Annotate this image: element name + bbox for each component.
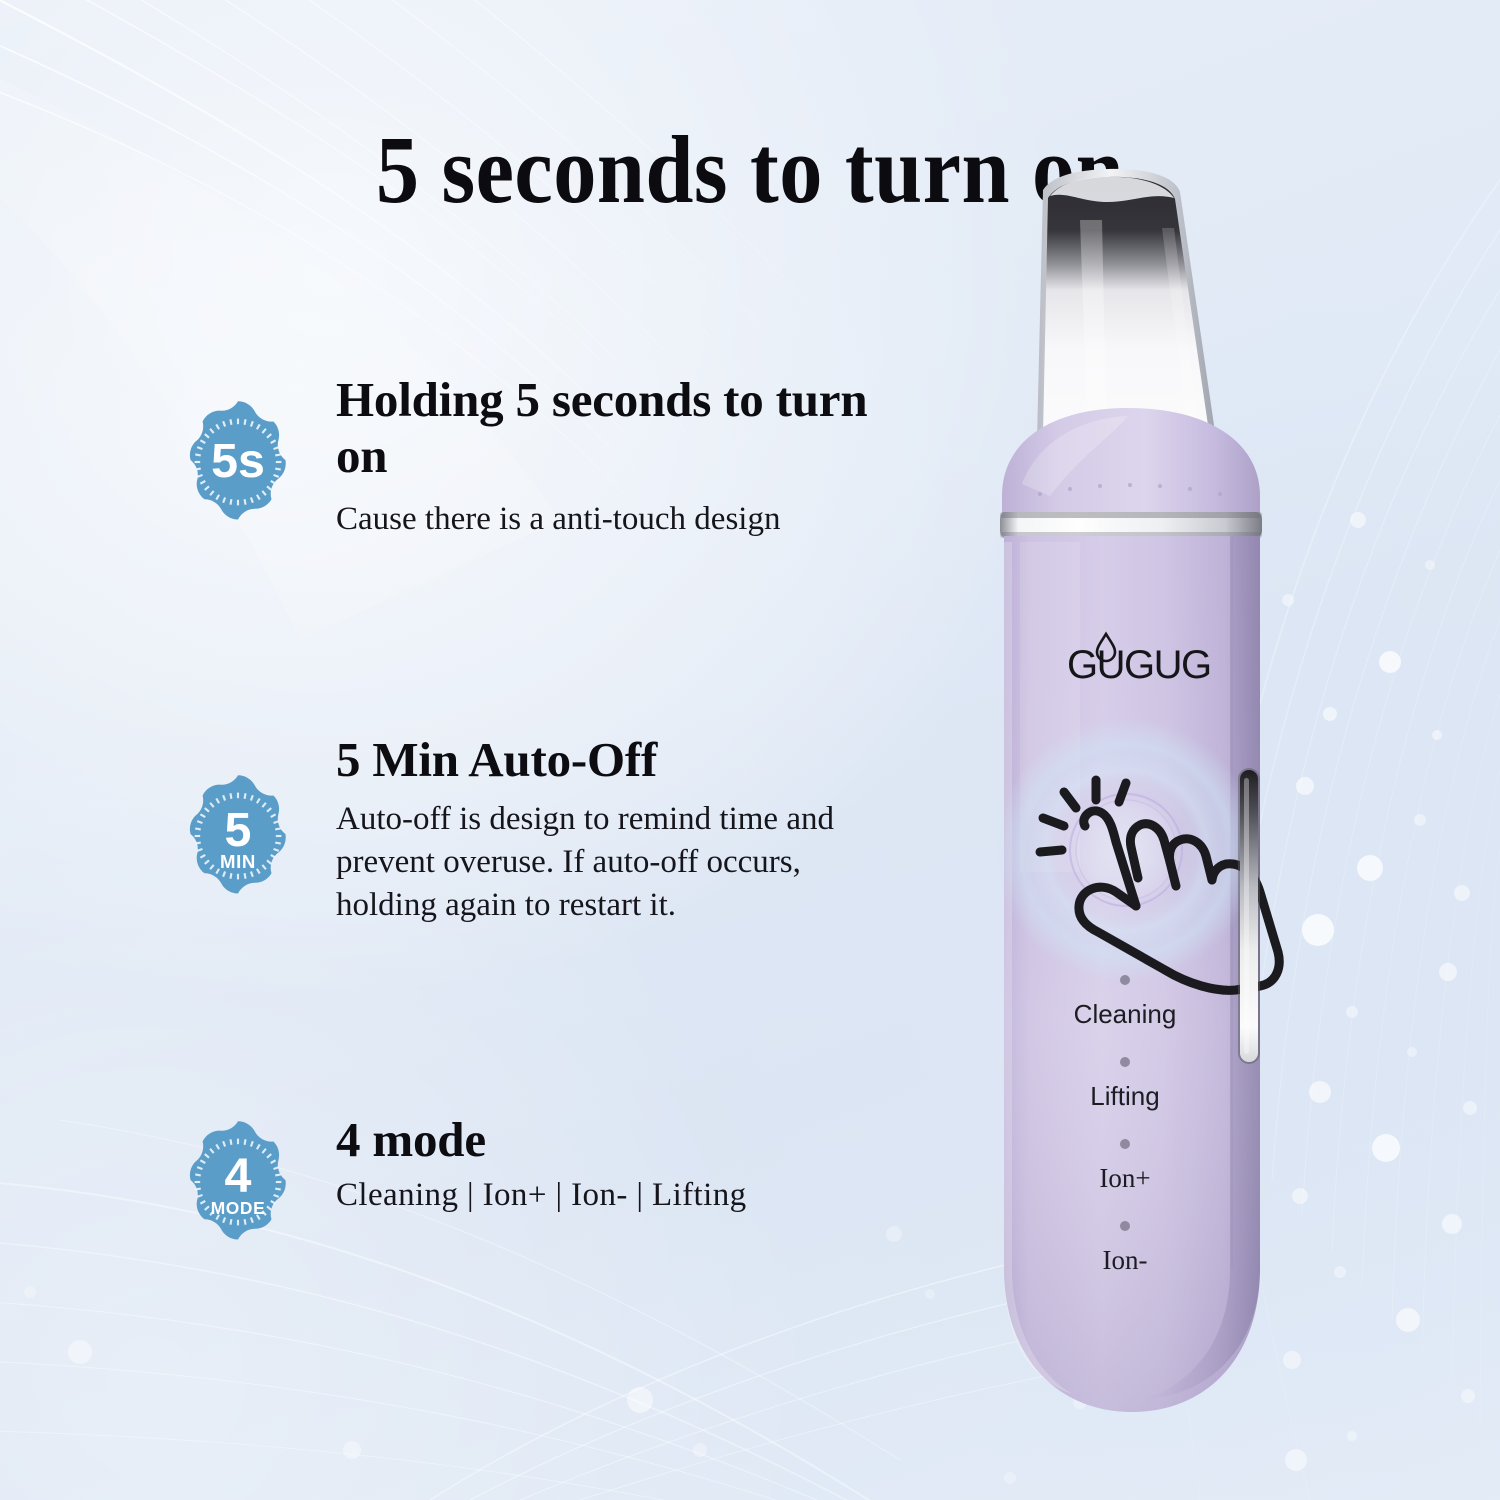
feature-text: 5 Min Auto-Off Auto-off is design to rem… xyxy=(336,732,876,927)
brand-logo-text: GUGUG xyxy=(1067,643,1211,687)
badge-sublabel: MIN xyxy=(220,851,256,872)
feature-item-hold-5-seconds: 5s Holding 5 seconds to turn on Cause th… xyxy=(176,372,876,732)
feature-heading: 5 Min Auto-Off xyxy=(336,732,876,788)
mode-label: Cleaning xyxy=(1074,999,1177,1029)
mode-label: Ion- xyxy=(1103,1245,1148,1275)
badge-sublabel: MODE xyxy=(211,1198,266,1218)
badge-value: 4 xyxy=(225,1149,252,1203)
mode-label: Ion+ xyxy=(1099,1163,1150,1193)
5s-badge-icon: 5s xyxy=(176,400,300,524)
mode-led-dot xyxy=(1120,1139,1130,1149)
feature-list: 5s Holding 5 seconds to turn on Cause th… xyxy=(176,372,876,1302)
mode-label: Lifting xyxy=(1090,1081,1159,1111)
5min-badge-icon: 5 MIN xyxy=(176,774,300,898)
mode-led-dot xyxy=(1120,1057,1130,1067)
feature-text: 4 mode Cleaning | Ion+ | Ion- | Lifting xyxy=(336,1112,876,1217)
feature-body: Cause there is a anti-touch design xyxy=(336,498,876,541)
4mode-badge-icon: 4 MODE xyxy=(176,1120,300,1244)
feature-text: Holding 5 seconds to turn on Cause there… xyxy=(336,372,876,541)
feature-heading: 4 mode xyxy=(336,1112,876,1168)
feature-body: Cleaning | Ion+ | Ion- | Lifting xyxy=(336,1174,876,1217)
feature-body: Auto-off is design to remind time and pr… xyxy=(336,798,876,927)
feature-item-5-min-auto-off: 5 MIN 5 Min Auto-Off Auto-off is design … xyxy=(176,732,876,1112)
feature-heading: Holding 5 seconds to turn on xyxy=(336,372,876,484)
badge-value: 5s xyxy=(211,434,265,488)
mode-led-dot xyxy=(1120,1221,1130,1231)
badge-value: 5 xyxy=(225,803,252,857)
product-infographic: 5 seconds to turn on xyxy=(0,0,1500,1500)
product-device: GUGUG xyxy=(930,150,1360,1470)
mode-led-dot xyxy=(1120,975,1130,985)
feature-item-4-mode: 4 MODE 4 mode Cleaning | Ion+ | Ion- | L… xyxy=(176,1112,876,1302)
power-strip-button[interactable] xyxy=(1238,768,1260,1064)
